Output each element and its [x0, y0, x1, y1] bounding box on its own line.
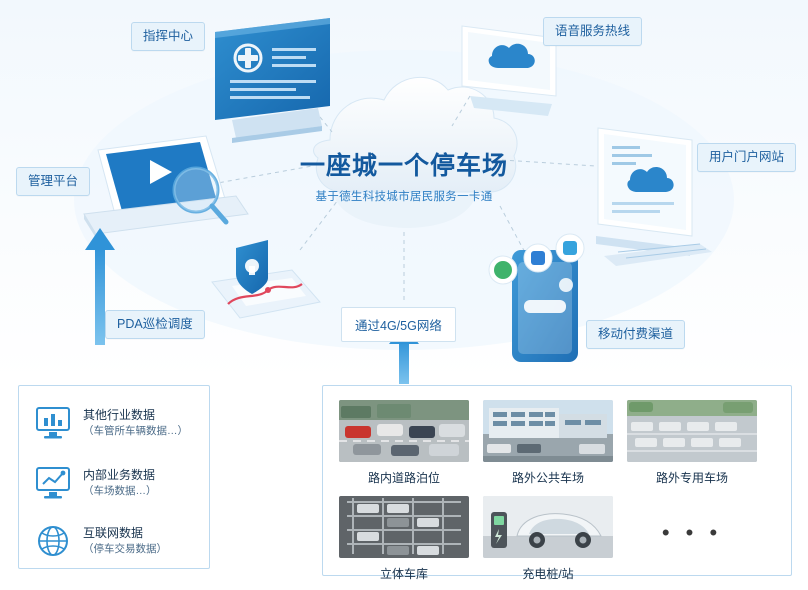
data-row-other-industry[interactable]: 其他行业数据 （车管所车辆数据…） — [33, 404, 188, 442]
center-subtitle: 基于德生科技城市居民服务一卡通 — [296, 188, 512, 204]
label-voice-hotline[interactable]: 语音服务热线 — [543, 17, 642, 46]
scene-off-street-private[interactable]: 路外专用车场 — [627, 400, 757, 486]
data-row-internal-business[interactable]: 内部业务数据 （车场数据…） — [33, 464, 157, 502]
label-pda-inspection[interactable]: PDA巡检调度 — [105, 310, 205, 339]
scene-thumbnail — [483, 496, 613, 558]
scene-off-street-public[interactable]: 路外公共车场 — [483, 400, 613, 486]
scene-thumbnail — [483, 400, 613, 462]
mobile-payment-device — [489, 234, 584, 362]
data-row-text: 其他行业数据 （车管所车辆数据…） — [83, 407, 188, 440]
data-row-sub: （车管所车辆数据…） — [83, 424, 188, 439]
data-row-title: 互联网数据 — [83, 525, 167, 542]
scene-thumbnail — [339, 400, 469, 462]
label-command-center[interactable]: 指挥中心 — [131, 22, 205, 51]
data-row-title: 其他行业数据 — [83, 407, 188, 424]
label-mobile-payment[interactable]: 移动付费渠道 — [586, 320, 685, 349]
scene-caption: 立体车库 — [339, 565, 469, 582]
data-row-sub: （停车交易数据） — [83, 542, 167, 557]
label-management-platform[interactable]: 管理平台 — [16, 167, 90, 196]
command-center-device — [215, 18, 330, 143]
center-title: 一座城一个停车场 — [296, 152, 512, 181]
scene-caption: 路外公共车场 — [483, 469, 613, 486]
diagram-canvas: 一座城一个停车场 基于德生科技城市居民服务一卡通 指挥中心 语音服务热线 用户门… — [0, 0, 808, 590]
scene-thumbnail — [339, 496, 469, 558]
data-row-internet[interactable]: 互联网数据 （停车交易数据） — [33, 522, 167, 560]
monitor-chart-icon — [33, 404, 73, 442]
data-sources-panel: 其他行业数据 （车管所车辆数据…） 内部业务数据 （车场数据…） — [18, 385, 210, 569]
data-row-title: 内部业务数据 — [83, 467, 157, 484]
scene-charging-station[interactable]: 充电桩/站 — [483, 496, 613, 582]
data-row-sub: （车场数据…） — [83, 484, 157, 499]
network-label-box: 通过4G/5G网络 — [341, 307, 456, 342]
management-platform-device — [84, 136, 248, 238]
label-user-portal[interactable]: 用户门户网站 — [697, 143, 796, 172]
monitor-trend-icon — [33, 464, 73, 502]
scene-grid: 路内道路泊位 — [339, 400, 777, 582]
center-title-block: 一座城一个停车场 基于德生科技城市居民服务一卡通 — [296, 152, 512, 204]
scene-on-street-parking[interactable]: 路内道路泊位 — [339, 400, 469, 486]
scenes-panel: 路内道路泊位 — [322, 385, 792, 576]
scene-caption: 路外专用车场 — [627, 469, 757, 486]
data-row-text: 互联网数据 （停车交易数据） — [83, 525, 167, 558]
scene-caption: 充电桩/站 — [483, 565, 613, 582]
scene-more-dots: • • • — [627, 496, 757, 564]
scene-caption: 路内道路泊位 — [339, 469, 469, 486]
scene-multi-level-garage[interactable]: 立体车库 — [339, 496, 469, 582]
scene-thumbnail — [627, 400, 757, 462]
pda-inspection-device — [212, 240, 320, 318]
data-row-text: 内部业务数据 （车场数据…） — [83, 467, 157, 500]
user-portal-device — [596, 128, 712, 266]
globe-icon — [33, 522, 73, 560]
voice-hotline-device — [462, 26, 556, 116]
